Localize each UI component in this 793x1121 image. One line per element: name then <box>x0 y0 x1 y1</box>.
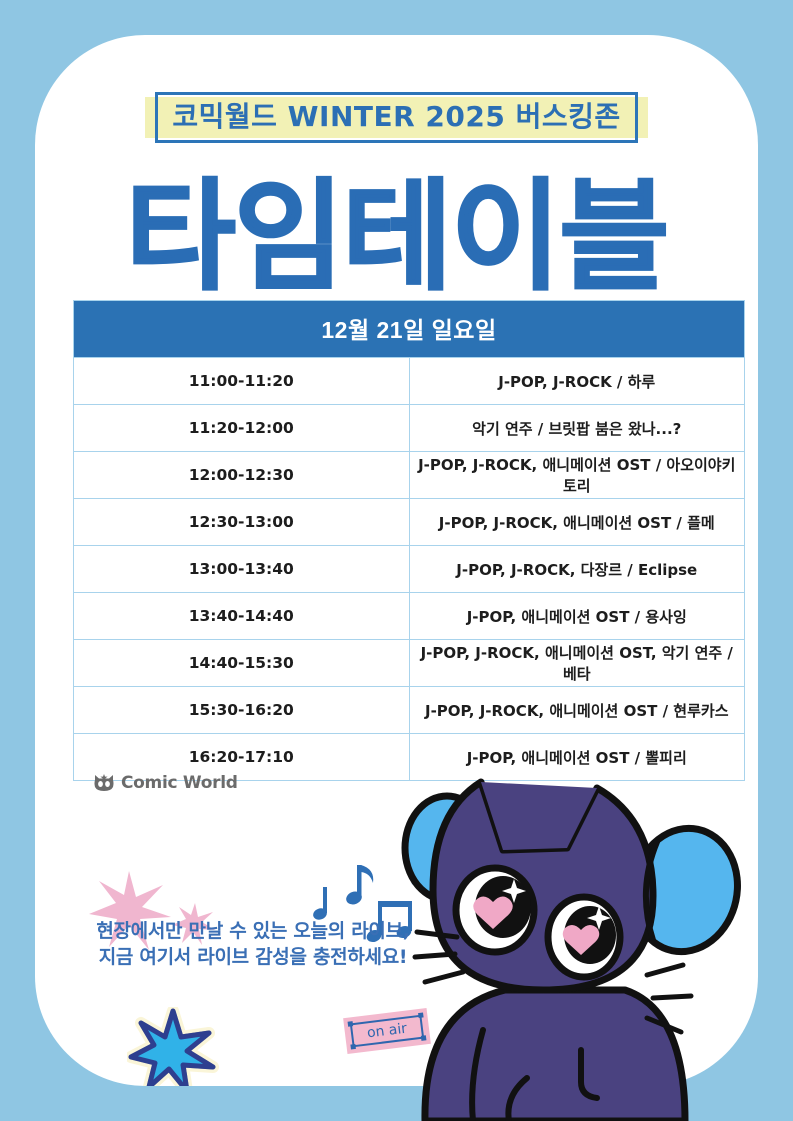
table-row: 13:00-13:40J-POP, J-ROCK, 다장르 / Eclipse <box>74 546 745 593</box>
schedule-program-cell: J-POP, J-ROCK, 애니메이션 OST / 플메 <box>409 499 745 546</box>
page-title: 타임테이블 <box>35 178 758 298</box>
schedule-time-cell: 13:00-13:40 <box>74 546 410 593</box>
schedule-program-cell: J-POP, J-ROCK / 하루 <box>409 358 745 405</box>
timetable: 12월 21일 일요일 11:00-11:20J-POP, J-ROCK / 하… <box>73 300 745 781</box>
table-row: 13:40-14:40J-POP, 애니메이션 OST / 용사잉 <box>74 593 745 640</box>
poster-canvas: 코믹월드 WINTER 2025 버스킹존 타임테이블 12월 21일 일요일 … <box>0 0 793 1121</box>
star-burst-icon <box>127 1007 219 1086</box>
schedule-program-cell: J-POP, 애니메이션 OST / 용사잉 <box>409 593 745 640</box>
schedule-time-cell: 12:00-12:30 <box>74 452 410 499</box>
timetable-day-header: 12월 21일 일요일 <box>74 301 745 358</box>
schedule-program-cell: J-POP, J-ROCK, 다장르 / Eclipse <box>409 546 745 593</box>
table-row: 12:30-13:00J-POP, J-ROCK, 애니메이션 OST / 플메 <box>74 499 745 546</box>
schedule-time-cell: 12:30-13:00 <box>74 499 410 546</box>
on-air-corner-dot <box>348 1021 354 1027</box>
comic-world-logo: Comic World <box>93 773 238 793</box>
schedule-time-cell: 15:30-16:20 <box>74 687 410 734</box>
header-badge-wrap: 코믹월드 WINTER 2025 버스킹존 <box>90 97 703 138</box>
schedule-time-cell: 13:40-14:40 <box>74 593 410 640</box>
table-row: 11:20-12:00악기 연주 / 브릿팝 붐은 왔나...? <box>74 405 745 452</box>
event-badge: 코믹월드 WINTER 2025 버스킹존 <box>145 97 647 138</box>
event-badge-label: 코믹월드 WINTER 2025 버스킹존 <box>155 92 637 143</box>
schedule-time-cell: 14:40-15:30 <box>74 640 410 687</box>
logo-text: Comic World <box>121 773 238 793</box>
table-row: 14:40-15:30J-POP, J-ROCK, 애니메이션 OST, 악기 … <box>74 640 745 687</box>
schedule-program-cell: J-POP, J-ROCK, 애니메이션 OST / 아오이야키토리 <box>409 452 745 499</box>
table-row: 12:00-12:30J-POP, J-ROCK, 애니메이션 OST / 아오… <box>74 452 745 499</box>
table-row: 15:30-16:20J-POP, J-ROCK, 애니메이션 OST / 현루… <box>74 687 745 734</box>
timetable-body: 11:00-11:20J-POP, J-ROCK / 하루11:20-12:00… <box>74 358 745 781</box>
cat-head-icon <box>93 774 115 792</box>
schedule-program-cell: J-POP, J-ROCK, 애니메이션 OST / 현루카스 <box>409 687 745 734</box>
cat-mascot-with-headphones <box>385 760 793 1121</box>
table-row: 11:00-11:20J-POP, J-ROCK / 하루 <box>74 358 745 405</box>
schedule-program-cell: 악기 연주 / 브릿팝 붐은 왔나...? <box>409 405 745 452</box>
on-air-corner-dot <box>350 1044 356 1050</box>
schedule-time-cell: 11:00-11:20 <box>74 358 410 405</box>
schedule-program-cell: J-POP, J-ROCK, 애니메이션 OST, 악기 연주 / 베타 <box>409 640 745 687</box>
schedule-time-cell: 11:20-12:00 <box>74 405 410 452</box>
timetable-head: 12월 21일 일요일 <box>74 301 745 358</box>
timetable-day-row: 12월 21일 일요일 <box>74 301 745 358</box>
